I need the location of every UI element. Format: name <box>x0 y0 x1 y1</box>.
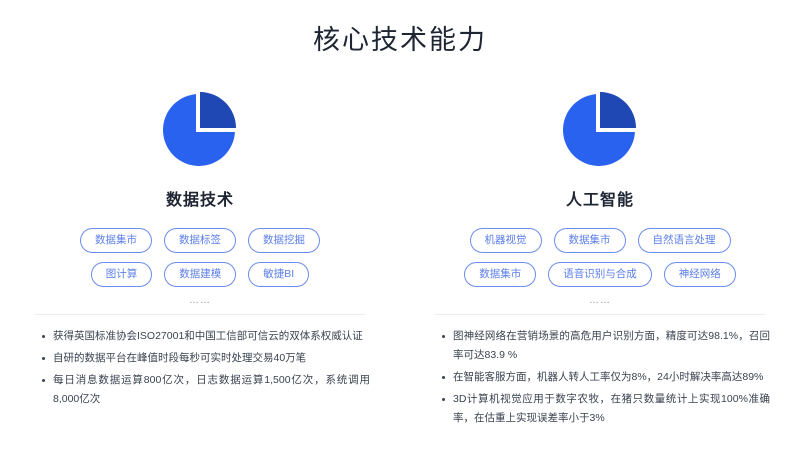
pie-chart-data-technology <box>163 92 237 166</box>
section-divider <box>435 314 765 315</box>
bullet-item: 在智能客服方面，机器人转人工率仅为8%，24小时解决率高达89% <box>440 368 770 387</box>
pill-row: 图计算 数据建模 敏捷BI <box>91 262 309 287</box>
bullet-item: 每日消息数据运算800亿次，日志数据运算1,500亿次，系统调用8,000亿次 <box>40 371 370 409</box>
column-artificial-intelligence: 人工智能 机器视觉 数据集市 自然语言处理 数据集市 语音识别与合成 神经网络 … <box>400 78 800 447</box>
pill-tag[interactable]: 机器视觉 <box>470 228 542 253</box>
pill-tag[interactable]: 语音识别与合成 <box>548 262 652 287</box>
section-divider <box>35 314 365 315</box>
ellipsis-marker: …… <box>189 296 211 306</box>
column-data-technology: 数据技术 数据集市 数据标签 数据挖掘 图计算 数据建模 敏捷BI …… 获得英… <box>0 78 400 447</box>
category-title-artificial-intelligence: 人工智能 <box>566 186 634 210</box>
bullet-item: 图神经网络在营销场景的高危用户识别方面，精度可达98.1%，召回率可达83.9 … <box>440 327 770 365</box>
pill-tag[interactable]: 敏捷BI <box>248 262 309 287</box>
pill-row: 数据集市 语音识别与合成 神经网络 <box>464 262 736 287</box>
page-title: 核心技术能力 <box>0 18 800 57</box>
pill-tag[interactable]: 图计算 <box>91 262 153 287</box>
pill-tag[interactable]: 数据集市 <box>80 228 152 253</box>
pill-group-artificial-intelligence: 机器视觉 数据集市 自然语言处理 数据集市 语音识别与合成 神经网络 <box>400 228 800 287</box>
pill-tag[interactable]: 数据标签 <box>164 228 236 253</box>
pie-chart-artificial-intelligence <box>563 92 637 166</box>
pill-tag[interactable]: 数据挖掘 <box>248 228 320 253</box>
pill-row: 机器视觉 数据集市 自然语言处理 <box>470 228 731 253</box>
bullet-item: 获得英国标准协会ISO27001和中国工信部可信云的双体系权威认证 <box>40 327 370 346</box>
bullet-list-data-technology: 获得英国标准协会ISO27001和中国工信部可信云的双体系权威认证 自研的数据平… <box>40 327 370 412</box>
category-title-data-technology: 数据技术 <box>166 186 234 210</box>
pill-tag[interactable]: 数据集市 <box>554 228 626 253</box>
pie-slice-minor <box>600 92 636 128</box>
pill-group-data-technology: 数据集市 数据标签 数据挖掘 图计算 数据建模 敏捷BI <box>0 228 400 287</box>
bullet-item: 自研的数据平台在峰值时段每秒可实时处理交易40万笔 <box>40 349 370 368</box>
pill-tag[interactable]: 神经网络 <box>664 262 736 287</box>
ellipsis-marker: …… <box>589 296 611 306</box>
bullet-list-artificial-intelligence: 图神经网络在营销场景的高危用户识别方面，精度可达98.1%，召回率可达83.9 … <box>440 327 770 431</box>
pie-slice-minor <box>200 92 236 128</box>
bullet-item: 3D计算机视觉应用于数字农牧，在猪只数量统计上实现100%准确率，在估重上实现误… <box>440 390 770 428</box>
pill-tag[interactable]: 数据集市 <box>464 262 536 287</box>
pill-tag[interactable]: 数据建模 <box>164 262 236 287</box>
slide-root: 核心技术能力 数据技术 数据集市 数据标签 数据挖掘 图计算 数据建模 敏捷BI <box>0 0 800 450</box>
columns-container: 数据技术 数据集市 数据标签 数据挖掘 图计算 数据建模 敏捷BI …… 获得英… <box>0 78 800 447</box>
pill-row: 数据集市 数据标签 数据挖掘 <box>80 228 320 253</box>
pill-tag[interactable]: 自然语言处理 <box>638 228 731 253</box>
